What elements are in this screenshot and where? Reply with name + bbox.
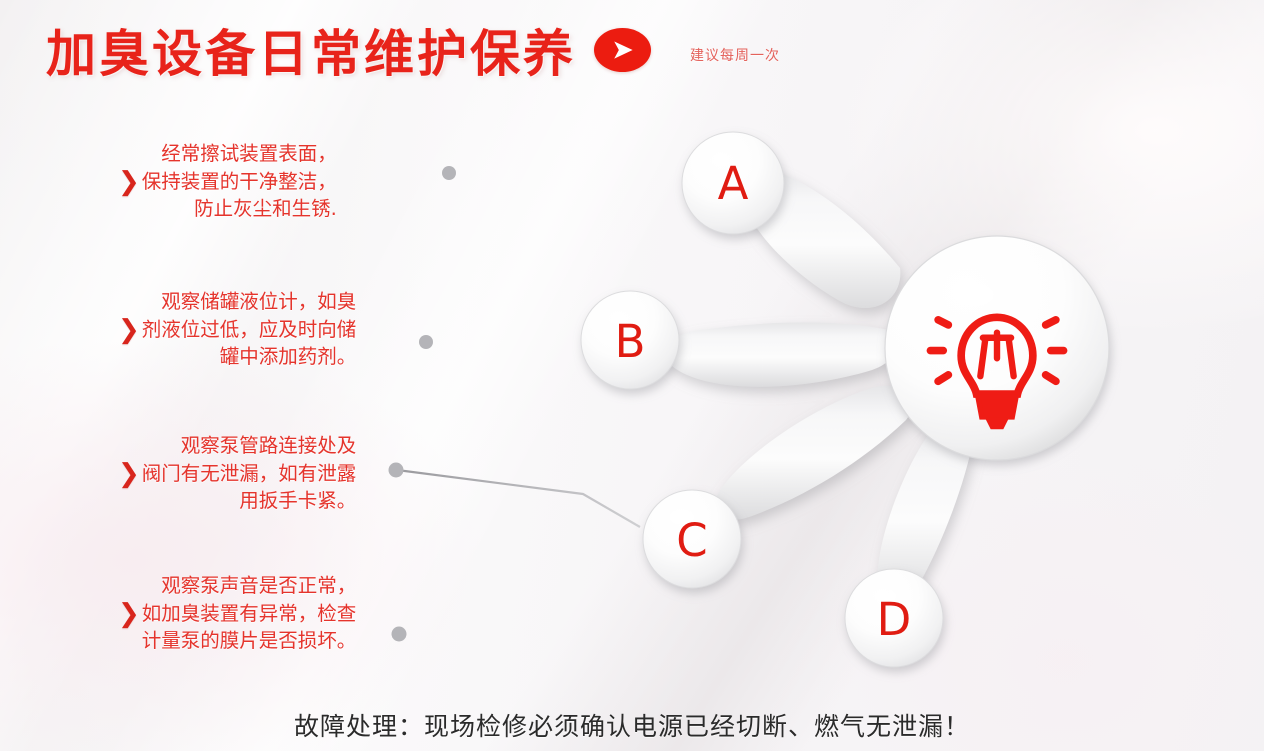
chevron-right-icon: ❯	[118, 601, 140, 627]
callout-d-text: 观察泵声音是否正常， 如加臭装置有异常，检查 计量泵的膜片是否损坏。	[142, 572, 357, 655]
background-wash-left	[0, 330, 500, 751]
callout-a: ❯ 经常擦试装置表面， 保持装置的干净整洁， 防止灰尘和生锈.	[118, 140, 418, 223]
connector-center-b	[665, 322, 899, 386]
connector-center-c	[715, 386, 912, 520]
page-title: 加臭设备日常维护保养	[46, 14, 576, 86]
header-subtitle: 建议每周一次	[690, 45, 780, 65]
callout-b-text: 观察储罐液位计，如臭 剂液位过低，应及时向储 罐中添加药剂。	[142, 288, 357, 371]
callout-a-text: 经常擦试装置表面， 保持装置的干净整洁， 防止灰尘和生锈.	[142, 140, 337, 223]
callout-c-text: 观察泵管路连接处及 阀门有无泄漏，如有泄露 用扳手卡紧。	[142, 432, 357, 515]
leader-dot-a	[442, 166, 456, 180]
leader-dot-b	[419, 335, 433, 349]
metaball-diagram: A B C D	[560, 100, 1180, 700]
callout-b: ❯ 观察储罐液位计，如臭 剂液位过低，应及时向储 罐中添加药剂。	[118, 288, 418, 371]
node-a-label: A	[718, 157, 749, 210]
footer-note: 故障处理：现场检修必须确认电源已经切断、燃气无泄漏！	[294, 707, 970, 743]
chevron-right-icon: ❯	[118, 317, 140, 343]
play-arrow-icon: ➤	[594, 28, 651, 72]
footer: 故障处理：现场检修必须确认电源已经切断、燃气无泄漏！	[0, 707, 1264, 743]
chevron-right-icon: ❯	[118, 169, 140, 195]
chevron-right-icon: ❯	[118, 461, 140, 487]
play-arrow-glyph: ➤	[594, 37, 651, 64]
callout-c: ❯ 观察泵管路连接处及 阀门有无泄漏，如有泄露 用扳手卡紧。	[118, 432, 403, 515]
infographic-page: 加臭设备日常维护保养 ➤ 建议每周一次 ❯ 经常擦试装置表面， 保持装置的干净整…	[0, 0, 1264, 751]
node-d-label: D	[877, 593, 912, 646]
node-c-label: C	[676, 514, 707, 567]
header: 加臭设备日常维护保养 ➤ 建议每周一次	[0, 0, 1264, 96]
callout-d: ❯ 观察泵声音是否正常， 如加臭装置有异常，检查 计量泵的膜片是否损坏。	[118, 572, 408, 655]
node-b-label: B	[615, 315, 646, 368]
